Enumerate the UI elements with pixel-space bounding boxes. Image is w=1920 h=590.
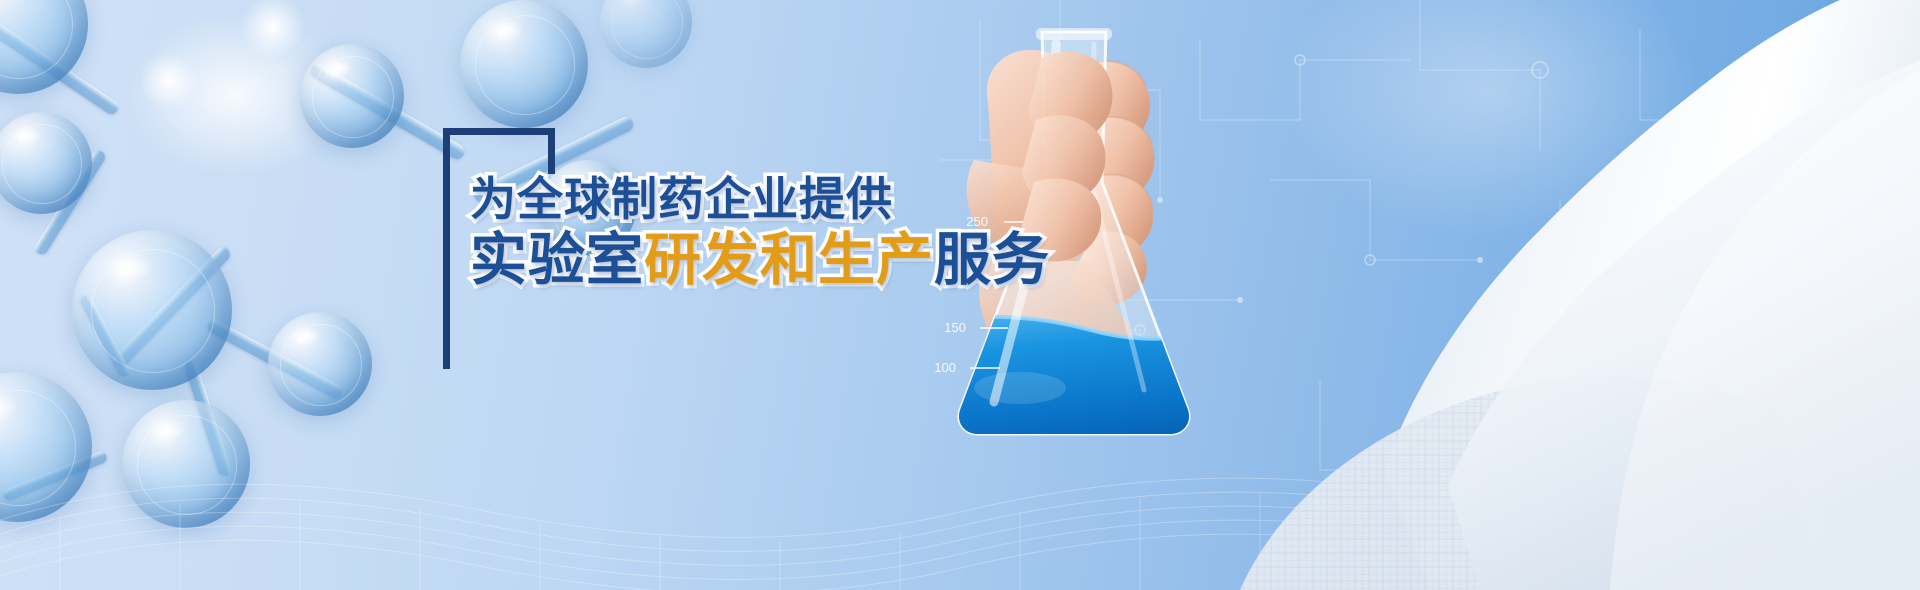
molecule-atom — [600, 0, 692, 68]
headline-line-2: 实验室研发和生产服务 — [470, 232, 1010, 289]
molecule-atom — [460, 0, 588, 128]
bracket-stub-bottom — [443, 333, 450, 369]
molecule-atom — [72, 230, 232, 390]
headline-line-2-part-3: 服务 — [934, 232, 1050, 289]
bracket-stub-top — [548, 128, 555, 174]
headline-block: 为全球制药企业提供 实验室研发和生产服务 — [470, 176, 1010, 289]
molecule-atom — [300, 44, 404, 148]
headline-line-1-text: 为全球制药企业提供 — [470, 176, 893, 222]
headline-line-2-part-1: 实验室 — [470, 232, 644, 289]
headline-line-1: 为全球制药企业提供 — [470, 176, 1010, 222]
hero-banner: 250 200 150 100 为全球制药企业提供 实验室研发和生产服务 — [0, 0, 1920, 590]
graduation-100: 100 — [934, 360, 956, 375]
headline-line-2-part-2: 研发和生产 — [644, 232, 934, 289]
graduation-150: 150 — [944, 320, 966, 335]
